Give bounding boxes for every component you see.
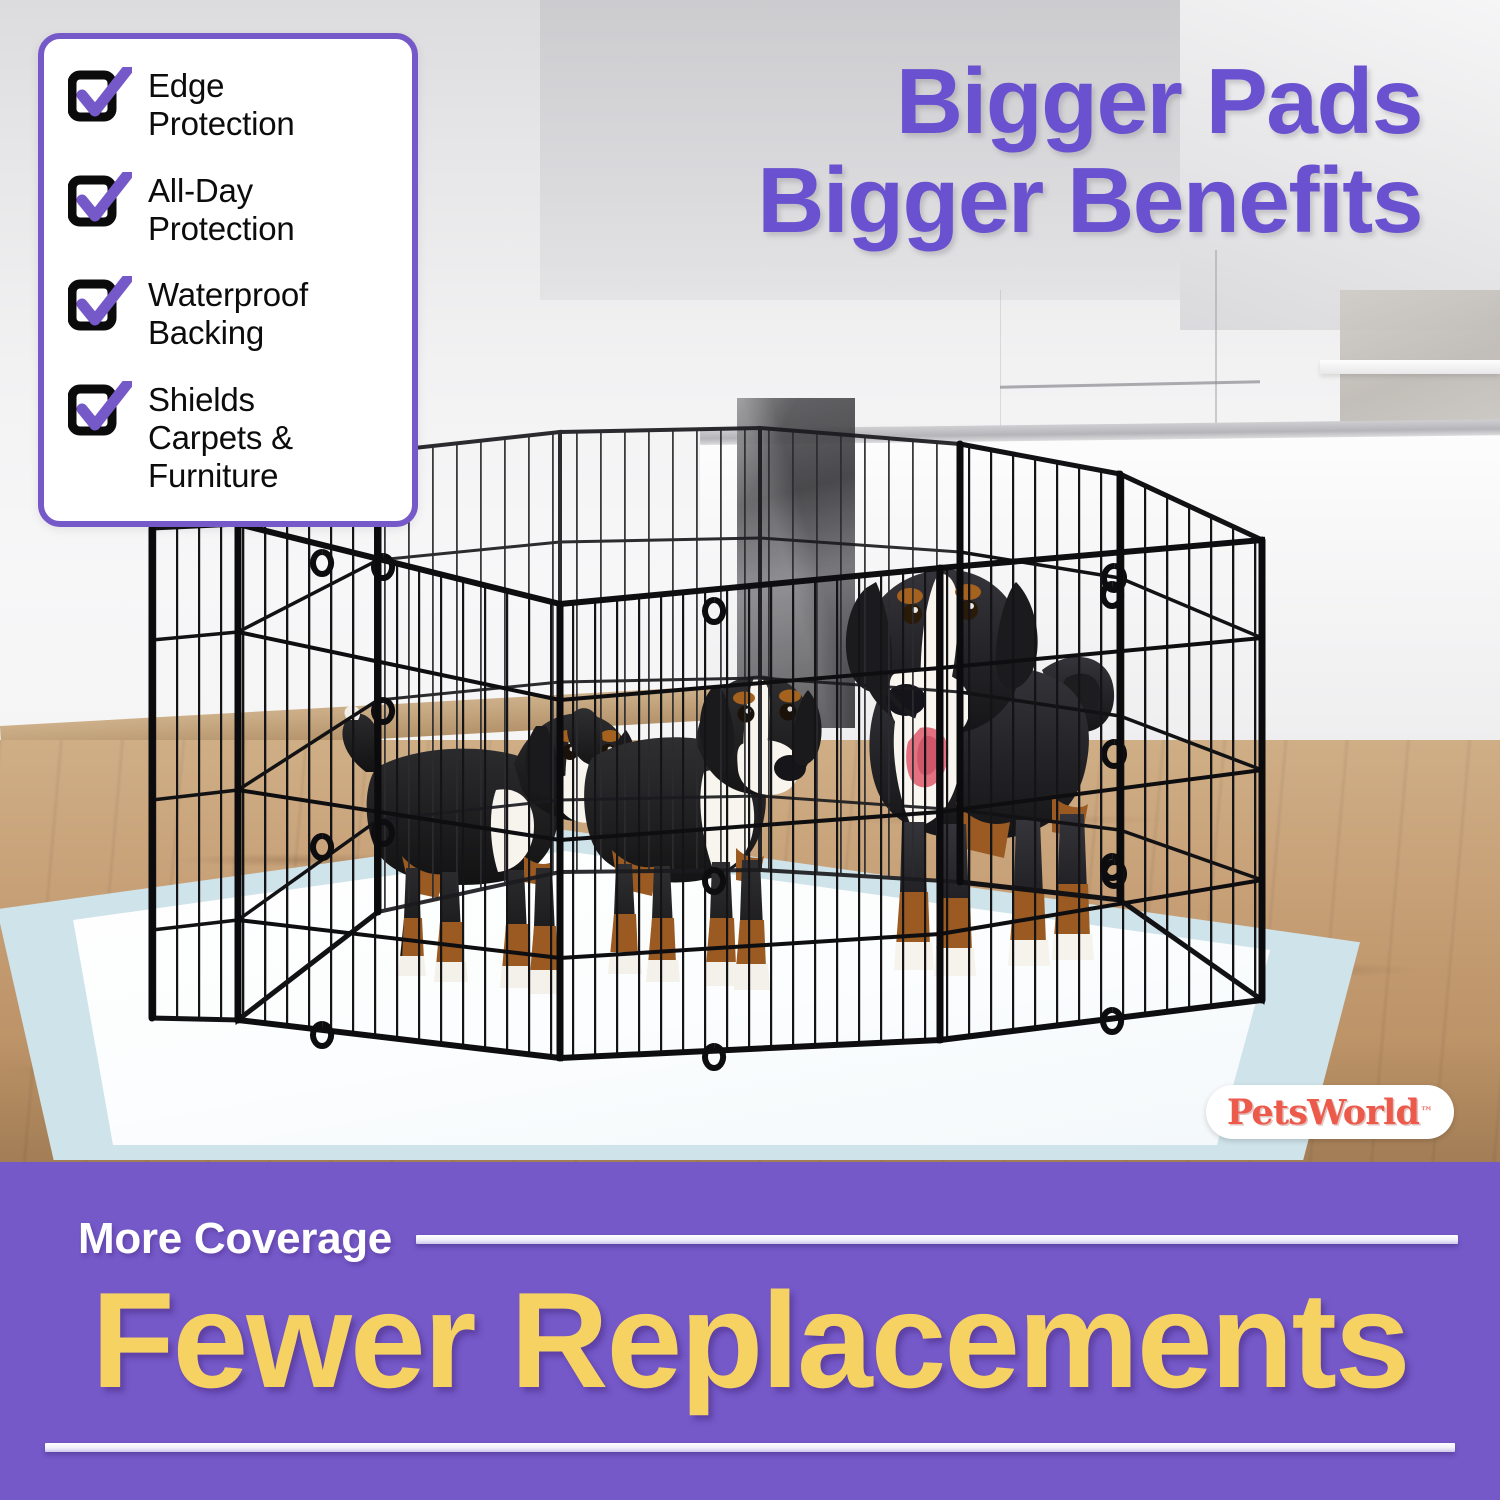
checkbox-check-icon [68,276,132,334]
bottom-banner: More Coverage Fewer Replacements [0,1162,1500,1500]
feature-item: Shields Carpets & Furniture [68,379,392,496]
feature-item-label: Waterproof Backing [148,274,308,353]
feature-label-line: Protection [148,210,295,247]
checkbox-check-icon [68,67,132,125]
feature-label-line: Edge [148,67,224,104]
feature-item-label: Edge Protection [148,65,295,144]
feature-item: All-Day Protection [68,170,392,249]
feature-label-line: Shields [148,381,255,418]
headline-line-1: Bigger Pads [757,52,1422,151]
product-marketing-image: PetsWorld™ Bigger Pads Bigger Benefits E… [0,0,1500,1500]
feature-label-line: All-Day [148,172,253,209]
banner-divider-bottom [45,1443,1455,1452]
brand-logo: PetsWorld™ [1206,1085,1454,1139]
product-photo-scene: PetsWorld™ Bigger Pads Bigger Benefits E… [0,0,1500,1162]
banner-eyebrow-text: More Coverage [78,1214,392,1264]
feature-item-label: All-Day Protection [148,170,295,249]
feature-item-label: Shields Carpets & Furniture [148,379,293,496]
feature-label-line: Furniture [148,457,278,494]
banner-headline: Fewer Replacements [91,1272,1408,1408]
feature-item: Edge Protection [68,65,392,144]
feature-label-line: Protection [148,105,295,142]
feature-label-line: Carpets & [148,419,293,456]
banner-eyebrow-row: More Coverage [78,1214,1458,1264]
feature-label-line: Waterproof [148,276,308,313]
feature-label-line: Backing [148,314,264,351]
feature-item: Waterproof Backing [68,274,392,353]
checkbox-check-icon [68,172,132,230]
checkbox-check-icon [68,381,132,439]
brand-logo-text: PetsWorld [1227,1092,1419,1133]
banner-divider-top [416,1235,1458,1244]
trademark-symbol: ™ [1420,1105,1433,1120]
feature-list-card: Edge Protection All-Day Protection [38,33,418,527]
page-title: Bigger Pads Bigger Benefits [757,52,1422,249]
headline-line-2: Bigger Benefits [757,151,1422,250]
